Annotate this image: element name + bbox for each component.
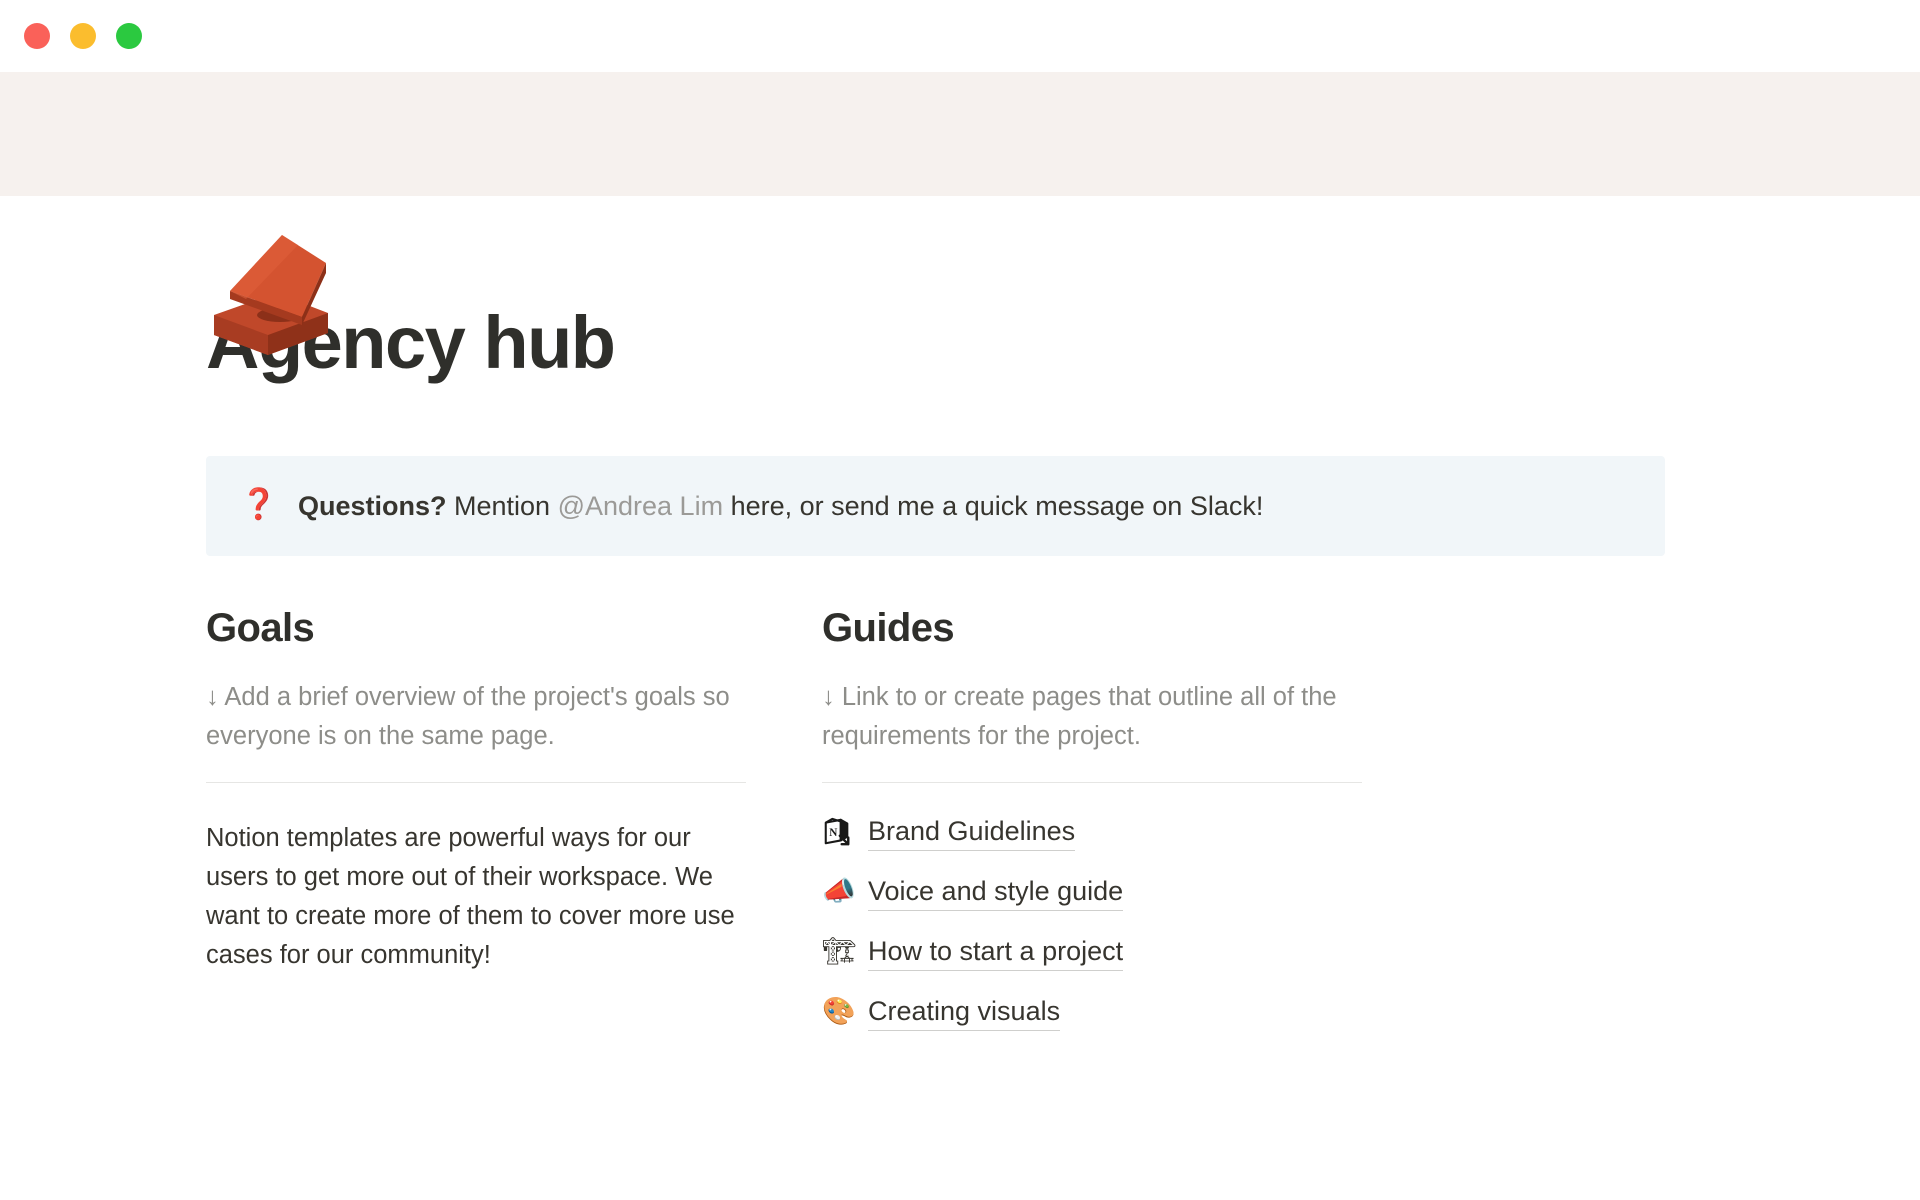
- goals-hint-text: ↓ Add a brief overview of the project's …: [206, 678, 746, 756]
- page-body: Agency hub ❓ Questions? Mention @Andrea …: [0, 304, 1920, 1053]
- callout-text-part2: here, or send me a quick message on Slac…: [723, 491, 1263, 521]
- list-item[interactable]: 🏗 How to start a project: [822, 933, 1362, 971]
- goals-body-text[interactable]: Notion templates are powerful ways for o…: [206, 819, 746, 975]
- two-column-layout: Goals ↓ Add a brief overview of the proj…: [206, 604, 1666, 1053]
- close-window-icon[interactable]: [24, 23, 50, 49]
- link-label[interactable]: Voice and style guide: [868, 873, 1123, 911]
- page-content: Agency hub ❓ Questions? Mention @Andrea …: [206, 304, 1666, 1053]
- link-label[interactable]: Brand Guidelines: [868, 813, 1075, 851]
- guides-divider: [822, 782, 1362, 783]
- app-window: Agency hub ❓ Questions? Mention @Andrea …: [0, 0, 1920, 1200]
- traffic-light-controls: [24, 23, 142, 49]
- notion-page-link-icon: N: [822, 817, 854, 847]
- goals-column: Goals ↓ Add a brief overview of the proj…: [206, 604, 746, 1053]
- megaphone-icon: 📣: [822, 875, 854, 909]
- callout-bold-text: Questions?: [298, 491, 447, 521]
- link-label[interactable]: Creating visuals: [868, 993, 1060, 1031]
- construction-crane-icon: 🏗: [822, 935, 854, 969]
- guides-hint-text: ↓ Link to or create pages that outline a…: [822, 678, 1362, 756]
- list-item[interactable]: 📣 Voice and style guide: [822, 873, 1362, 911]
- page-cover[interactable]: [0, 72, 1920, 196]
- minimize-window-icon[interactable]: [70, 23, 96, 49]
- link-label[interactable]: How to start a project: [868, 933, 1123, 971]
- brick-emoji-icon[interactable]: [206, 229, 336, 359]
- list-item[interactable]: N Brand Guidelines: [822, 813, 1362, 851]
- goals-heading[interactable]: Goals: [206, 604, 746, 652]
- guides-heading[interactable]: Guides: [822, 604, 1362, 652]
- window-titlebar: [0, 0, 1920, 72]
- maximize-window-icon[interactable]: [116, 23, 142, 49]
- list-item[interactable]: 🎨 Creating visuals: [822, 993, 1362, 1031]
- page-title[interactable]: Agency hub: [206, 304, 1666, 382]
- artist-palette-icon: 🎨: [822, 995, 854, 1029]
- callout-block[interactable]: ❓ Questions? Mention @Andrea Lim here, o…: [206, 456, 1665, 556]
- callout-text-part1: Mention: [447, 491, 558, 521]
- question-mark-icon: ❓: [240, 486, 274, 524]
- svg-text:N: N: [829, 826, 837, 838]
- guides-link-list: N Brand Guidelines 📣 Voice and style gui…: [822, 813, 1362, 1031]
- goals-divider: [206, 782, 746, 783]
- callout-text: Questions? Mention @Andrea Lim here, or …: [298, 486, 1263, 525]
- user-mention[interactable]: @Andrea Lim: [558, 491, 723, 521]
- guides-column: Guides ↓ Link to or create pages that ou…: [822, 604, 1362, 1053]
